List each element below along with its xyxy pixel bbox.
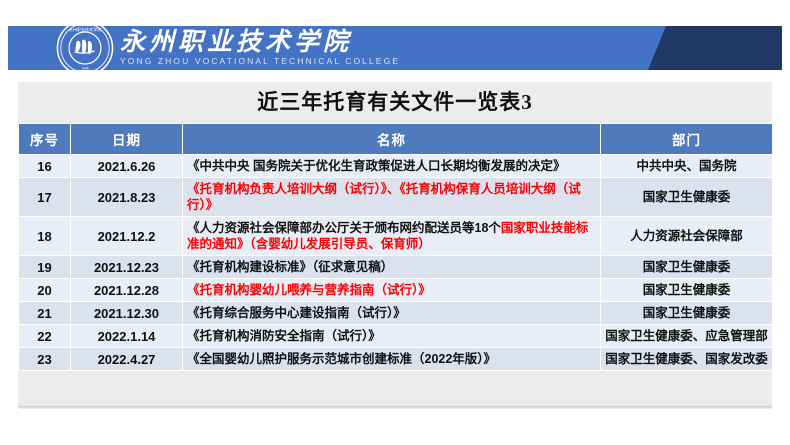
table-header: 序号 日期 名称 部门 (19, 124, 773, 155)
cell-no: 18 (19, 217, 71, 256)
cell-dept: 中共中央、国务院 (601, 155, 773, 178)
cell-name: 《人力资源社会保障部办公厅关于颁布网约配送员等18个国家职业技能标准的通知》（含… (183, 217, 601, 256)
cell-no: 20 (19, 279, 71, 302)
page-title: 近三年托育有关文件一览表3 (18, 82, 772, 119)
cell-name-black: 《托育综合服务中心建设指南（试行）》 (187, 306, 406, 320)
cell-name-red: 《托育机构婴幼儿喂养与营养指南（试行）》 (187, 283, 431, 297)
cell-dept: 国家卫生健康委 (601, 302, 773, 325)
cell-dept: 人力资源社会保障部 (601, 217, 773, 256)
column-header-date: 日期 (71, 124, 183, 155)
table-row: 17 2021.8.23 《托育机构负责人培训大纲（试行）》、《托育机构保育人员… (19, 178, 773, 217)
cell-name: 《中共中央 国务院关于优化生育政策促进人口长期均衡发展的决定》 (183, 155, 601, 178)
table-row: 23 2022.4.27 《全国婴幼儿照护服务示范城市创建标准（2022年版）》… (19, 348, 773, 371)
cell-name-black: 《人力资源社会保障部办公厅关于颁布网约配送员等18个 (187, 221, 501, 235)
cell-date: 2021.12.30 (71, 302, 183, 325)
table-row: 21 2021.12.30 《托育综合服务中心建设指南（试行）》 国家卫生健康委 (19, 302, 773, 325)
cell-no: 22 (19, 325, 71, 348)
cell-name-black: 《托育机构消防安全指南（试行）》 (187, 329, 381, 343)
table-row: 18 2021.12.2 《人力资源社会保障部办公厅关于颁布网约配送员等18个国… (19, 217, 773, 256)
cell-date: 2022.1.14 (71, 325, 183, 348)
cell-no: 17 (19, 178, 71, 217)
table-header-row: 序号 日期 名称 部门 (19, 124, 773, 155)
cell-no: 19 (19, 256, 71, 279)
cell-date: 2021.12.2 (71, 217, 183, 256)
cell-name-black: 《托育机构建设标准》（征求意见稿） (187, 260, 393, 274)
slide-content-panel: 近三年托育有关文件一览表3 序号 日期 名称 部门 16 2021.6 (18, 82, 772, 406)
table-body: 16 2021.6.26 《中共中央 国务院关于优化生育政策促进人口长期均衡发展… (19, 155, 773, 371)
column-header-name: 名称 (183, 124, 601, 155)
cell-dept: 国家卫生健康委 (601, 178, 773, 217)
table-row: 19 2021.12.23 《托育机构建设标准》（征求意见稿） 国家卫生健康委 (19, 256, 773, 279)
cell-name: 《托育机构负责人培训大纲（试行）》、《托育机构保育人员培训大纲（试行）》 (183, 178, 601, 217)
cell-name: 《托育机构消防安全指南（试行）》 (183, 325, 601, 348)
cell-date: 2021.8.23 (71, 178, 183, 217)
cell-dept: 国家卫生健康委、国家发改委 (601, 348, 773, 371)
cell-no: 21 (19, 302, 71, 325)
documents-table: 序号 日期 名称 部门 16 2021.6.26 《中共中央 国务院关于优化生育… (18, 123, 773, 371)
cell-no: 16 (19, 155, 71, 178)
header-band-navy-accent (648, 26, 782, 70)
cell-name: 《托育综合服务中心建设指南（试行）》 (183, 302, 601, 325)
cell-name-red: 《托育机构负责人培训大纲（试行）》、《托育机构保育人员培训大纲（试行）》 (187, 182, 581, 212)
table-row: 16 2021.6.26 《中共中央 国务院关于优化生育政策促进人口长期均衡发展… (19, 155, 773, 178)
college-name-en: YONG ZHOU VOCATIONAL TECHNICAL COLLEGE (120, 57, 400, 66)
cell-name: 《托育机构婴幼儿喂养与营养指南（试行）》 (183, 279, 601, 302)
column-header-no: 序号 (19, 124, 71, 155)
cell-name: 《全国婴幼儿照护服务示范城市创建标准（2022年版）》 (183, 348, 601, 371)
cell-date: 2022.4.27 (71, 348, 183, 371)
panel-bottom-shadow (18, 406, 772, 409)
cell-name-black: 《中共中央 国务院关于优化生育政策促进人口长期均衡发展的决定》 (187, 159, 565, 173)
cell-date: 2021.12.28 (71, 279, 183, 302)
cell-date: 2021.6.26 (71, 155, 183, 178)
cell-no: 23 (19, 348, 71, 371)
cell-name-black: 《全国婴幼儿照护服务示范城市创建标准（2022年版）》 (187, 352, 496, 366)
cell-date: 2021.12.23 (71, 256, 183, 279)
slide-header-banner: 永州职业技术学院 1906 永州职业技术学院 YONG ZHOU VOCATIO… (8, 26, 782, 70)
cell-name: 《托育机构建设标准》（征求意见稿） (183, 256, 601, 279)
table-row: 20 2021.12.28 《托育机构婴幼儿喂养与营养指南（试行）》 国家卫生健… (19, 279, 773, 302)
presentation-slide: 永州职业技术学院 1906 永州职业技术学院 YONG ZHOU VOCATIO… (0, 0, 790, 445)
college-seal-icon: 永州职业技术学院 1906 (56, 19, 114, 77)
column-header-dept: 部门 (601, 124, 773, 155)
cell-dept: 国家卫生健康委、应急管理部 (601, 325, 773, 348)
table-row: 22 2022.1.14 《托育机构消防安全指南（试行）》 国家卫生健康委、应急… (19, 325, 773, 348)
cell-dept: 国家卫生健康委 (601, 279, 773, 302)
svg-text:1906: 1906 (81, 66, 89, 70)
cell-dept: 国家卫生健康委 (601, 256, 773, 279)
svg-text:永州职业技术学院: 永州职业技术学院 (69, 26, 101, 32)
college-name-cn: 永州职业技术学院 (120, 29, 400, 56)
college-wordmark: 永州职业技术学院 YONG ZHOU VOCATIONAL TECHNICAL … (120, 29, 400, 69)
